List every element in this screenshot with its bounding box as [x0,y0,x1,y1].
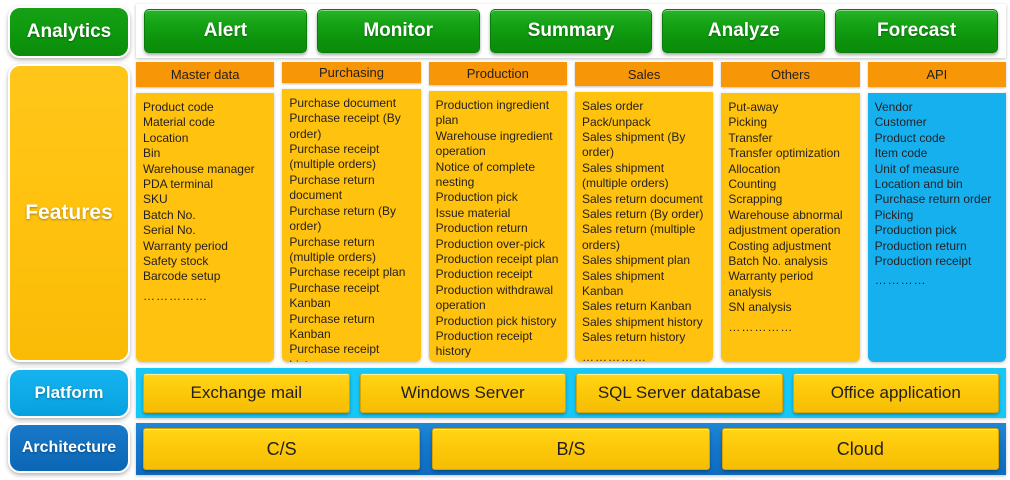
feature-item[interactable]: Sales return (By order) [582,207,707,222]
features-grid: Master dataProduct codeMaterial codeLoca… [136,62,1006,362]
feature-column-body: Sales orderPack/unpackSales shipment (By… [575,92,713,362]
feature-item[interactable]: Production pick [875,223,1000,238]
platform-button-sql-server-database[interactable]: SQL Server database [576,373,783,413]
feature-column-body: Purchase documentPurchase receipt (By or… [282,89,420,362]
feature-item[interactable]: Serial No. [143,223,268,238]
feature-item[interactable]: Sales shipment (multiple orders) [582,161,707,192]
feature-item[interactable]: Purchase return order [875,192,1000,207]
feature-column-body: Product codeMaterial codeLocationBinWare… [136,93,274,362]
feature-item[interactable]: Purchase document [289,96,414,111]
feature-item[interactable]: Purchase receipt (By order) [289,111,414,142]
feature-item[interactable]: SKU [143,192,268,207]
rail-label-platform: Platform [8,368,130,418]
feature-column-master-data: Master dataProduct codeMaterial codeLoca… [136,62,274,362]
feature-item[interactable]: Purchase receipt history [289,342,414,362]
feature-column-header[interactable]: API [868,62,1006,87]
feature-column-body: Production ingredient planWarehouse ingr… [429,91,567,362]
feature-item[interactable]: Sales shipment plan [582,253,707,268]
feature-item[interactable]: Purchase receipt plan [289,265,414,280]
rail-label-features-text: Features [25,201,113,225]
feature-column-others: OthersPut-awayPickingTransferTransfer op… [721,62,859,362]
feature-item[interactable]: Item code [875,146,1000,161]
feature-item[interactable]: Sales shipment (By order) [582,130,707,161]
feature-item[interactable]: Safety stock [143,254,268,269]
feature-item[interactable]: Scrapping [728,192,853,207]
feature-item[interactable]: …………… [436,360,561,362]
feature-item[interactable]: Production return [875,239,1000,254]
analytics-button-alert[interactable]: Alert [144,9,307,53]
feature-item[interactable]: PDA terminal [143,177,268,192]
architecture-button-c-s[interactable]: C/S [143,428,420,470]
feature-item[interactable]: Warehouse ingredient operation [436,129,561,160]
rail-label-platform-text: Platform [35,383,104,403]
feature-item[interactable]: Allocation [728,162,853,177]
feature-item[interactable]: Purchase return (By order) [289,204,414,235]
feature-item[interactable]: Purchase return Kanban [289,312,414,343]
feature-item[interactable]: Warranty period [143,239,268,254]
feature-column-production: ProductionProduction ingredient planWare… [429,62,567,362]
feature-column-body: VendorCustomerProduct codeItem codeUnit … [868,93,1006,362]
feature-item[interactable]: Batch No. analysis [728,254,853,269]
feature-item[interactable]: Location and bin [875,177,1000,192]
feature-item[interactable]: Put-away [728,100,853,115]
feature-item[interactable]: Sales shipment Kanban [582,269,707,300]
architecture-diagram: Analytics Features Platform Architecture… [0,0,1010,480]
feature-item[interactable]: Sales return history [582,330,707,345]
feature-item[interactable]: Material code [143,115,268,130]
feature-item[interactable]: Production return [436,221,561,236]
platform-band: Exchange mailWindows ServerSQL Server da… [136,368,1006,418]
feature-column-api: APIVendorCustomerProduct codeItem codeUn… [868,62,1006,362]
feature-item[interactable]: Sales return (multiple orders) [582,222,707,253]
feature-item[interactable]: Unit of measure [875,162,1000,177]
feature-item[interactable]: Production pick history [436,314,561,329]
feature-item[interactable]: Transfer [728,131,853,146]
analytics-button-analyze[interactable]: Analyze [662,9,825,53]
feature-item[interactable]: Pack/unpack [582,115,707,130]
feature-item[interactable]: Product code [143,100,268,115]
analytics-button-monitor[interactable]: Monitor [317,9,480,53]
feature-column-header[interactable]: Master data [136,62,274,87]
feature-item[interactable]: Barcode setup [143,269,268,284]
feature-item[interactable]: Picking [875,208,1000,223]
feature-item[interactable]: Notice of complete nesting [436,160,561,191]
feature-item[interactable]: Customer [875,115,1000,130]
architecture-button-cloud[interactable]: Cloud [722,428,999,470]
feature-item[interactable]: Location [143,131,268,146]
feature-column-header[interactable]: Sales [575,62,713,86]
feature-column-header[interactable]: Production [429,62,567,85]
analytics-button-summary[interactable]: Summary [490,9,653,53]
feature-item[interactable]: …………… [728,316,853,335]
feature-column-sales: SalesSales orderPack/unpackSales shipmen… [575,62,713,362]
feature-column-purchasing: PurchasingPurchase documentPurchase rece… [282,62,420,362]
feature-item[interactable]: Production pick [436,190,561,205]
feature-item[interactable]: Production over-pick [436,237,561,252]
feature-item[interactable]: Production withdrawal operation [436,283,561,314]
feature-item[interactable]: Purchase return document [289,173,414,204]
feature-item[interactable]: Vendor [875,100,1000,115]
platform-button-exchange-mail[interactable]: Exchange mail [143,373,350,413]
feature-item[interactable]: Purchase return (multiple orders) [289,235,414,266]
feature-item[interactable]: …………… [582,346,707,362]
feature-item[interactable]: Bin [143,146,268,161]
analytics-button-forecast[interactable]: Forecast [835,9,998,53]
feature-item[interactable]: Warranty period analysis [728,269,853,300]
feature-item[interactable]: ………… [875,269,1000,288]
feature-item[interactable]: Production receipt [436,267,561,282]
analytics-band: AlertMonitorSummaryAnalyzeForecast [136,4,1006,58]
architecture-band: C/SB/SCloud [136,423,1006,475]
architecture-button-b-s[interactable]: B/S [432,428,709,470]
feature-item[interactable]: Production receipt plan [436,252,561,267]
rail-label-analytics-text: Analytics [27,21,111,43]
feature-item[interactable]: Production receipt history [436,329,561,360]
feature-column-body: Put-awayPickingTransferTransfer optimiza… [721,93,859,362]
feature-item[interactable]: Sales order [582,99,707,114]
feature-item[interactable]: Issue material [436,206,561,221]
feature-item[interactable]: …………… [143,285,268,304]
rail-label-analytics: Analytics [8,6,130,58]
feature-item[interactable]: Picking [728,115,853,130]
feature-item[interactable]: Counting [728,177,853,192]
feature-item[interactable]: Sales return document [582,192,707,207]
feature-item[interactable]: Production receipt [875,254,1000,269]
feature-item[interactable]: SN analysis [728,300,853,315]
feature-column-header[interactable]: Others [721,62,859,87]
feature-item[interactable]: Transfer optimization [728,146,853,161]
feature-column-header[interactable]: Purchasing [282,62,420,83]
rail-label-features: Features [8,64,130,362]
feature-item[interactable]: Production ingredient plan [436,98,561,129]
platform-button-windows-server[interactable]: Windows Server [360,373,567,413]
feature-item[interactable]: Sales return Kanban [582,299,707,314]
feature-item[interactable]: Costing adjustment [728,239,853,254]
feature-item[interactable]: Purchase receipt (multiple orders) [289,142,414,173]
feature-item[interactable]: Warehouse manager [143,162,268,177]
feature-item[interactable]: Product code [875,131,1000,146]
rail-label-architecture-text: Architecture [22,439,116,457]
feature-item[interactable]: Sales shipment history [582,315,707,330]
feature-item[interactable]: Warehouse abnormal adjustment operation [728,208,853,239]
feature-item[interactable]: Batch No. [143,208,268,223]
feature-item[interactable]: Purchase receipt Kanban [289,281,414,312]
platform-button-office-application[interactable]: Office application [793,373,1000,413]
rail-label-architecture: Architecture [8,423,130,473]
